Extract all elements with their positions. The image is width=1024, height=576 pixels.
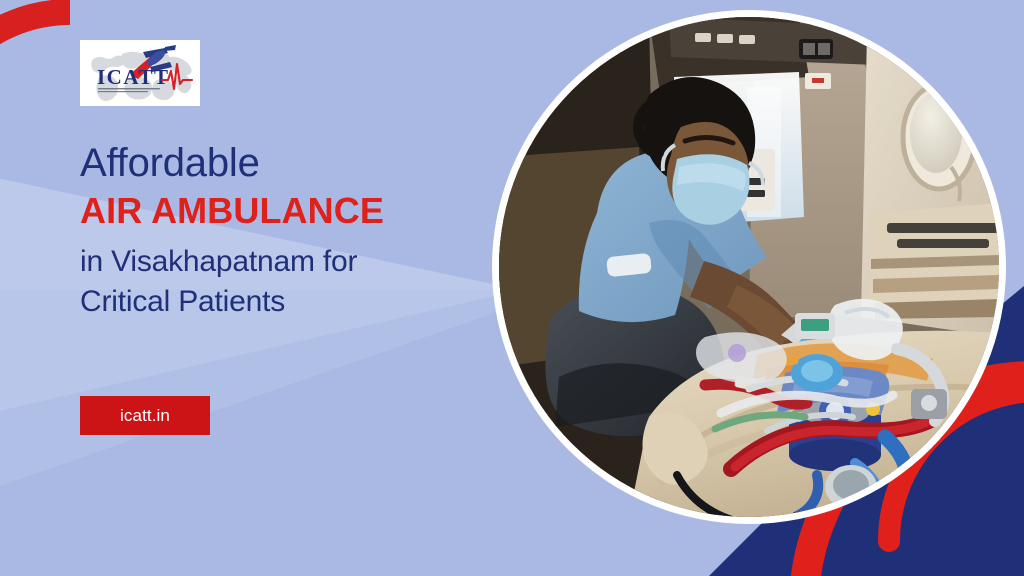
headline-line-2: AIR AMBULANCE xyxy=(80,187,480,236)
hero-photo-frame xyxy=(492,10,1006,524)
hero-photo xyxy=(499,17,999,517)
icatt-logo-icon: ICATT xyxy=(80,40,200,106)
headline-line-3b: Critical Patients xyxy=(80,282,480,323)
headline-line-3: in Visakhapatnam for Critical Patients xyxy=(80,242,480,323)
headline-line-1: Affordable xyxy=(80,140,480,187)
icatt-logo[interactable]: ICATT xyxy=(80,40,200,106)
headline-block: Affordable AIR AMBULANCE in Visakhapatna… xyxy=(80,140,480,323)
headline-line-3a: in Visakhapatnam for xyxy=(80,242,480,283)
hero-photo-illustration xyxy=(499,17,999,517)
website-cta-button[interactable]: icatt.in xyxy=(80,396,210,435)
svg-text:ICATT: ICATT xyxy=(97,65,169,89)
promo-banner: ICATT Affordable AIR AMBULANCE in Visakh… xyxy=(0,0,1024,576)
website-cta-label: icatt.in xyxy=(120,406,170,426)
